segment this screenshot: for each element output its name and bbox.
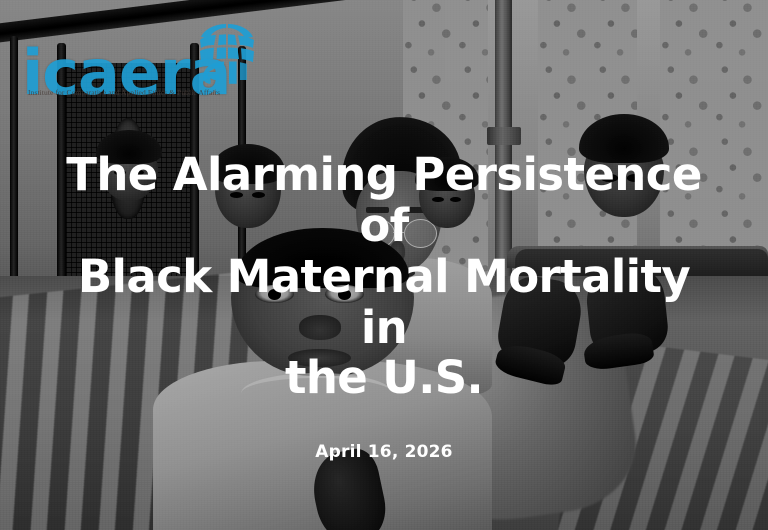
title-slide: icaera (0, 0, 768, 530)
logo-tagline: Institute for Comparative and Applied Et… (28, 88, 256, 97)
hero-text-block: The Alarming Persistence of Black Matern… (0, 150, 768, 462)
organization-logo[interactable]: icaera (22, 20, 252, 102)
title-line-2: Black Maternal Mortality in (78, 250, 690, 354)
page-title: The Alarming Persistence of Black Matern… (50, 150, 718, 404)
globe-icon (198, 22, 256, 84)
title-line-3: the U.S. (285, 351, 483, 404)
title-line-1: The Alarming Persistence of (66, 148, 702, 252)
event-date: April 16, 2026 (50, 442, 718, 462)
